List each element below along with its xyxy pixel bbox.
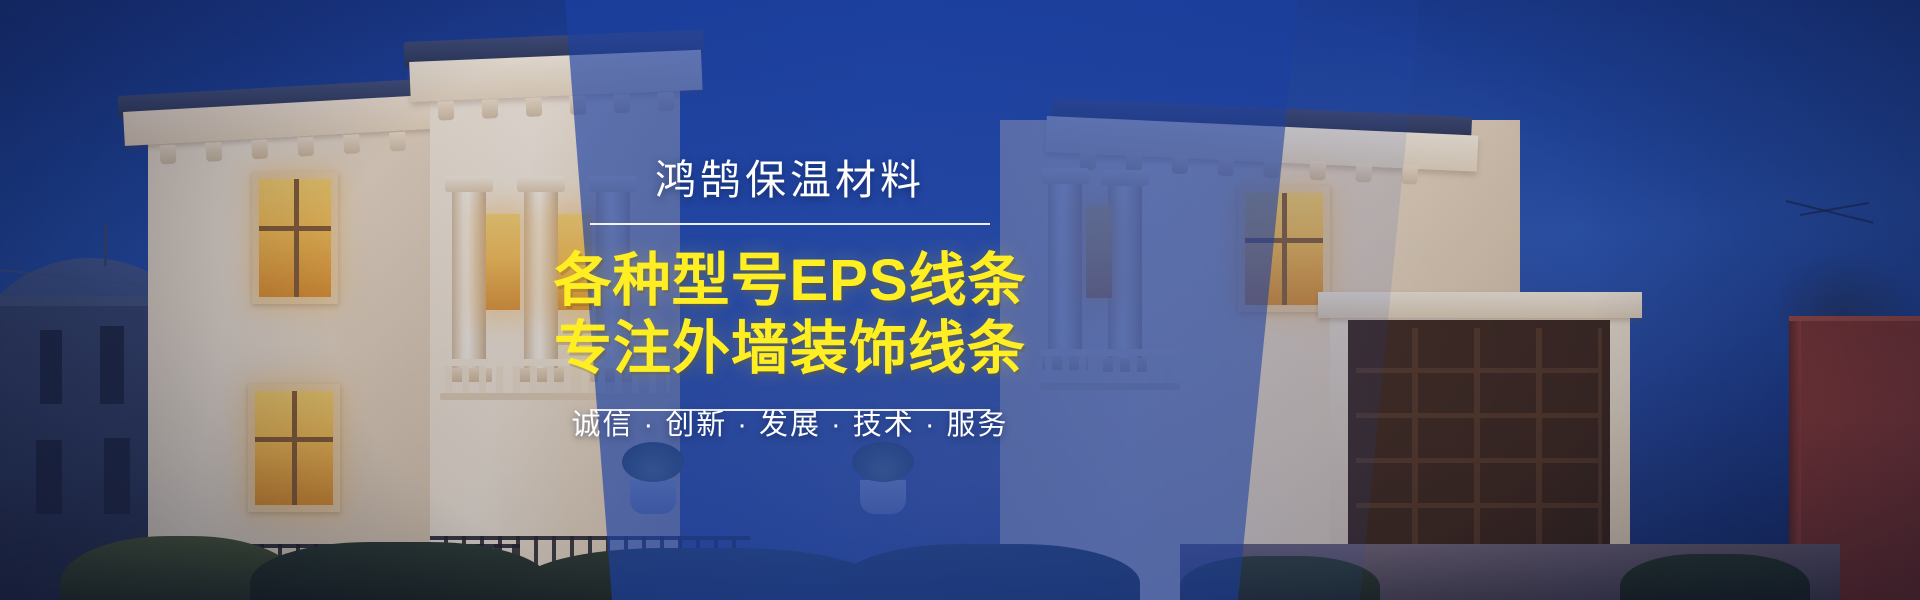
glowing-window (1245, 193, 1323, 305)
shadow-window (40, 330, 62, 404)
hedge (1180, 556, 1380, 600)
column (1108, 184, 1142, 360)
hero-banner: 鸿鹄保温材料 各种型号EPS线条 专注外墙装饰线条 诚信 · 创新 · 发展 ·… (0, 0, 1920, 600)
portico-glow (486, 214, 520, 310)
antenna-mast (104, 222, 107, 266)
window-frame (1238, 186, 1330, 312)
headline: 各种型号EPS线条 专注外墙装饰线条 (553, 247, 1026, 384)
red-wall-coping (1789, 316, 1920, 321)
right-portico-glow (1086, 206, 1112, 298)
brand-name: 鸿鹄保温材料 (655, 160, 925, 201)
glowing-window (259, 179, 331, 297)
glowing-window (255, 391, 333, 505)
shadow-window (104, 438, 130, 514)
column (1048, 182, 1082, 358)
shadow-window (36, 440, 62, 514)
garage-lintel (1318, 292, 1642, 318)
shadow-window (100, 326, 124, 404)
window-frame (252, 172, 338, 304)
column (452, 190, 486, 370)
balustrade (1040, 356, 1180, 390)
banner-text-block: 鸿鹄保温材料 各种型号EPS线条 专注外墙装饰线条 诚信 · 创新 · 发展 ·… (560, 0, 1020, 600)
hedge (250, 542, 550, 600)
hedge (1620, 554, 1810, 600)
headline-line-2: 专注外墙装饰线条 (553, 315, 1026, 383)
window-frame (248, 384, 340, 512)
tagline: 诚信 · 创新 · 发展 · 技术 · 服务 (571, 411, 1008, 440)
headline-line-1: 各种型号EPS线条 (553, 247, 1026, 315)
divider-top (590, 223, 990, 225)
